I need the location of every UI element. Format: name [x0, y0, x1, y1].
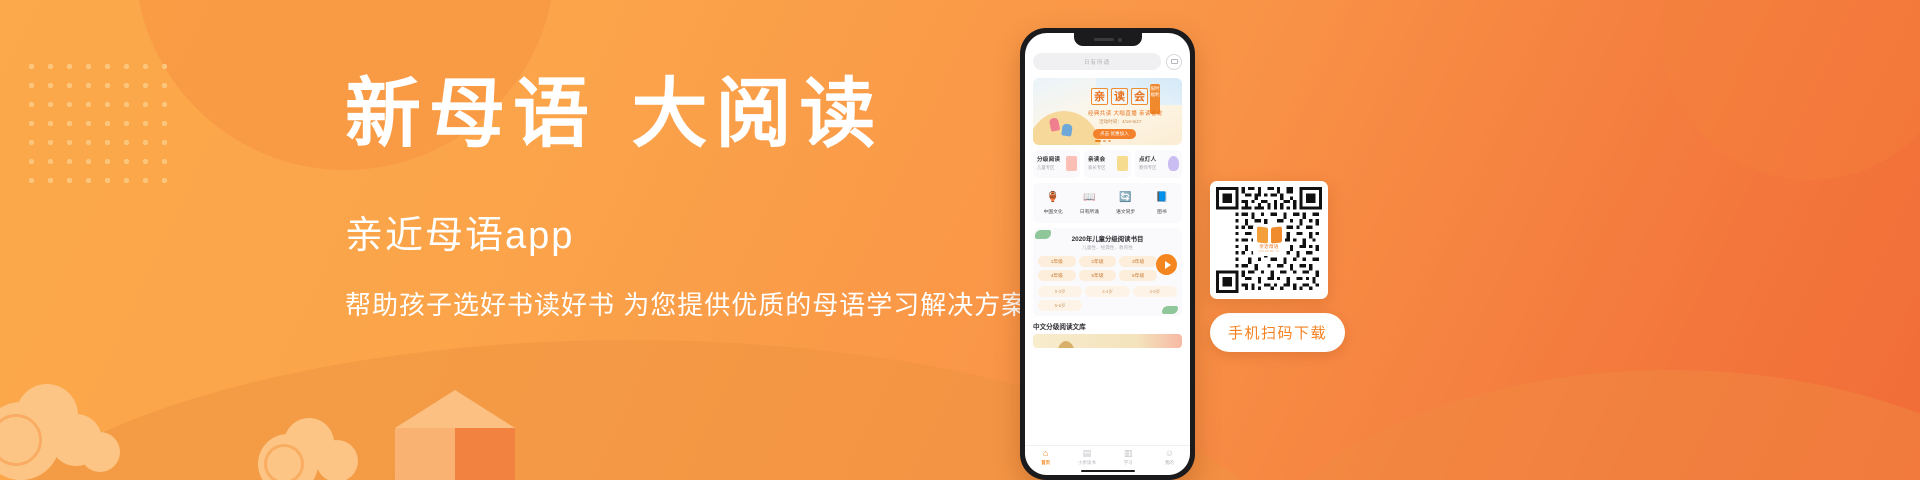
- brand-logo: 亲近母语 QIN JIN MU YU: [1253, 224, 1285, 256]
- grade-chip[interactable]: 4年级: [1038, 270, 1076, 281]
- phone-hero-banner[interactable]: 亲 读 会 限时福利 经典共读 大咖直播 亲读者说 活动时间：4/16-5/27…: [1033, 78, 1182, 145]
- age-chip[interactable]: 5-6岁: [1038, 300, 1082, 311]
- phone-mockup: 日有所诵 亲 读 会 限时福利 经典共读 大咖直播: [1020, 28, 1195, 480]
- grade-chip[interactable]: 5年级: [1079, 270, 1117, 281]
- tab-label: 首页: [1025, 460, 1066, 466]
- vase-icon: 🏺: [1047, 192, 1060, 205]
- banner-copy: 新母语 大阅读 亲近母语app 帮助孩子选好书读好书 为您提供优质的母语学习解决…: [345, 72, 1065, 322]
- book-blob-icon: [1066, 156, 1077, 171]
- leaf-decoration: [1035, 230, 1051, 239]
- search-placeholder: 日有所诵: [1084, 58, 1110, 66]
- book-open-icon: 📖: [1083, 192, 1096, 205]
- hero-title-char: 会: [1131, 88, 1148, 105]
- feature-card-parent-club[interactable]: 亲读会 家长专区: [1084, 150, 1131, 178]
- promo-banner: 新母语 大阅读 亲近母语app 帮助孩子选好书读好书 为您提供优质的母语学习解决…: [0, 0, 1920, 480]
- category-textbook-sync[interactable]: 🔄 语文同步: [1108, 192, 1144, 215]
- age-chip[interactable]: 0-3岁: [1038, 286, 1082, 297]
- age-chip[interactable]: 3-4岁: [1085, 286, 1129, 297]
- logo-name-en: QIN JIN MU YU: [1259, 250, 1280, 253]
- hero-cta-button[interactable]: 点击 优惠加入: [1093, 129, 1136, 139]
- tab-study[interactable]: ▥ 学习: [1108, 449, 1149, 466]
- tab-home[interactable]: ⌂ 首页: [1025, 449, 1066, 466]
- lamp-blob-icon: [1168, 156, 1179, 171]
- phone-library-section: 中文分级阅读文库: [1033, 321, 1182, 348]
- scan-icon[interactable]: [1166, 54, 1182, 70]
- leaf-decoration: [1162, 306, 1178, 314]
- qr-card: 亲近母语 QIN JIN MU YU: [1210, 181, 1328, 299]
- dot-grid-decoration: [22, 57, 168, 187]
- book-logo-icon: [1257, 227, 1282, 243]
- grade-chip[interactable]: 3年级: [1119, 256, 1157, 267]
- qr-block: 亲近母语 QIN JIN MU YU 手机扫码下载: [1210, 181, 1328, 352]
- download-button[interactable]: 手机扫码下载: [1210, 313, 1345, 352]
- hero-title-char: 亲: [1091, 88, 1108, 105]
- category-label: 语文同步: [1108, 208, 1144, 215]
- books-icon: 📘: [1155, 192, 1168, 205]
- feature-card-teacher[interactable]: 点灯人 教师专区: [1135, 150, 1182, 178]
- grade-card-subtitle: 儿童性、经典性、教育性: [1038, 245, 1177, 251]
- hero-title-char: 读: [1111, 88, 1128, 105]
- hero-date: 活动时间：4/16-5/27: [1099, 119, 1141, 125]
- search-input[interactable]: 日有所诵: [1033, 53, 1161, 70]
- carousel-dots[interactable]: [1095, 140, 1111, 142]
- tab-profile[interactable]: ☺ 我的: [1149, 449, 1190, 466]
- study-icon: ▥: [1108, 449, 1149, 458]
- hero-title: 亲 读 会: [1091, 88, 1148, 105]
- page-title: 新母语 大阅读: [345, 72, 1065, 156]
- tab-label: 我的: [1149, 460, 1190, 466]
- bookmark-blob-icon: [1117, 156, 1128, 171]
- sync-icon: 🔄: [1119, 192, 1132, 205]
- isometric-cube-decoration: [395, 390, 515, 480]
- play-icon[interactable]: [1156, 254, 1177, 275]
- app-name: 亲近母语app: [345, 204, 1065, 259]
- circle-decoration-right: [1660, 0, 1920, 180]
- phone-category-icons: 🏺 中国文化 📖 日有所诵 🔄 语文同步 📘 图书: [1033, 183, 1182, 223]
- tab-reading[interactable]: ▤ 小步读书: [1066, 449, 1107, 466]
- grade-card-title: 2020年儿童分级阅读书目: [1038, 234, 1177, 243]
- age-chip[interactable]: 4-5岁: [1133, 286, 1177, 297]
- category-chinese-culture[interactable]: 🏺 中国文化: [1035, 192, 1071, 215]
- library-banner[interactable]: [1033, 334, 1182, 348]
- grade-chip[interactable]: 2年级: [1079, 256, 1117, 267]
- phone-screen: 日有所诵 亲 读 会 限时福利 经典共读 大咖直播: [1025, 33, 1190, 475]
- age-chip-list: 0-3岁 3-4岁 4-5岁 5-6岁: [1038, 286, 1177, 311]
- feature-card-graded-reading[interactable]: 分级阅读 儿童专区: [1033, 150, 1080, 178]
- phone-grade-card: 2020年儿童分级阅读书目 儿童性、经典性、教育性 1年级 2年级 3年级 4年…: [1033, 228, 1182, 316]
- cloud-decoration-bottom-mid: [258, 418, 378, 480]
- phone-notch: [1074, 33, 1142, 46]
- category-label: 日有所诵: [1071, 208, 1107, 215]
- category-label: 中国文化: [1035, 208, 1071, 215]
- cloud-decoration-bottom-left: [0, 384, 132, 480]
- phone-frame: 日有所诵 亲 读 会 限时福利 经典共读 大咖直播: [1020, 28, 1195, 480]
- tagline: 帮助孩子选好书读好书 为您提供优质的母语学习解决方案: [345, 285, 1065, 322]
- category-books[interactable]: 📘 图书: [1144, 192, 1180, 215]
- grade-chip[interactable]: 1年级: [1038, 256, 1076, 267]
- category-label: 图书: [1144, 208, 1180, 215]
- tab-label: 小步读书: [1066, 460, 1107, 466]
- phone-feature-cards: 分级阅读 儿童专区 亲读会 家长专区 点灯人 教师专区: [1033, 150, 1182, 178]
- category-daily-recitation[interactable]: 📖 日有所诵: [1071, 192, 1107, 215]
- tab-label: 学习: [1108, 460, 1149, 466]
- hero-subrow: 经典共读 大咖直播 亲读者说: [1088, 109, 1163, 117]
- home-indicator: [1081, 470, 1135, 473]
- phone-tab-bar: ⌂ 首页 ▤ 小步读书 ▥ 学习 ☺ 我的: [1025, 445, 1190, 475]
- profile-icon: ☺: [1149, 449, 1190, 458]
- grade-chip[interactable]: 6年级: [1119, 270, 1157, 281]
- reading-icon: ▤: [1066, 449, 1107, 458]
- hill-decoration-right: [1220, 370, 1920, 480]
- home-icon: ⌂: [1025, 449, 1066, 458]
- library-title: 中文分级阅读文库: [1033, 321, 1182, 331]
